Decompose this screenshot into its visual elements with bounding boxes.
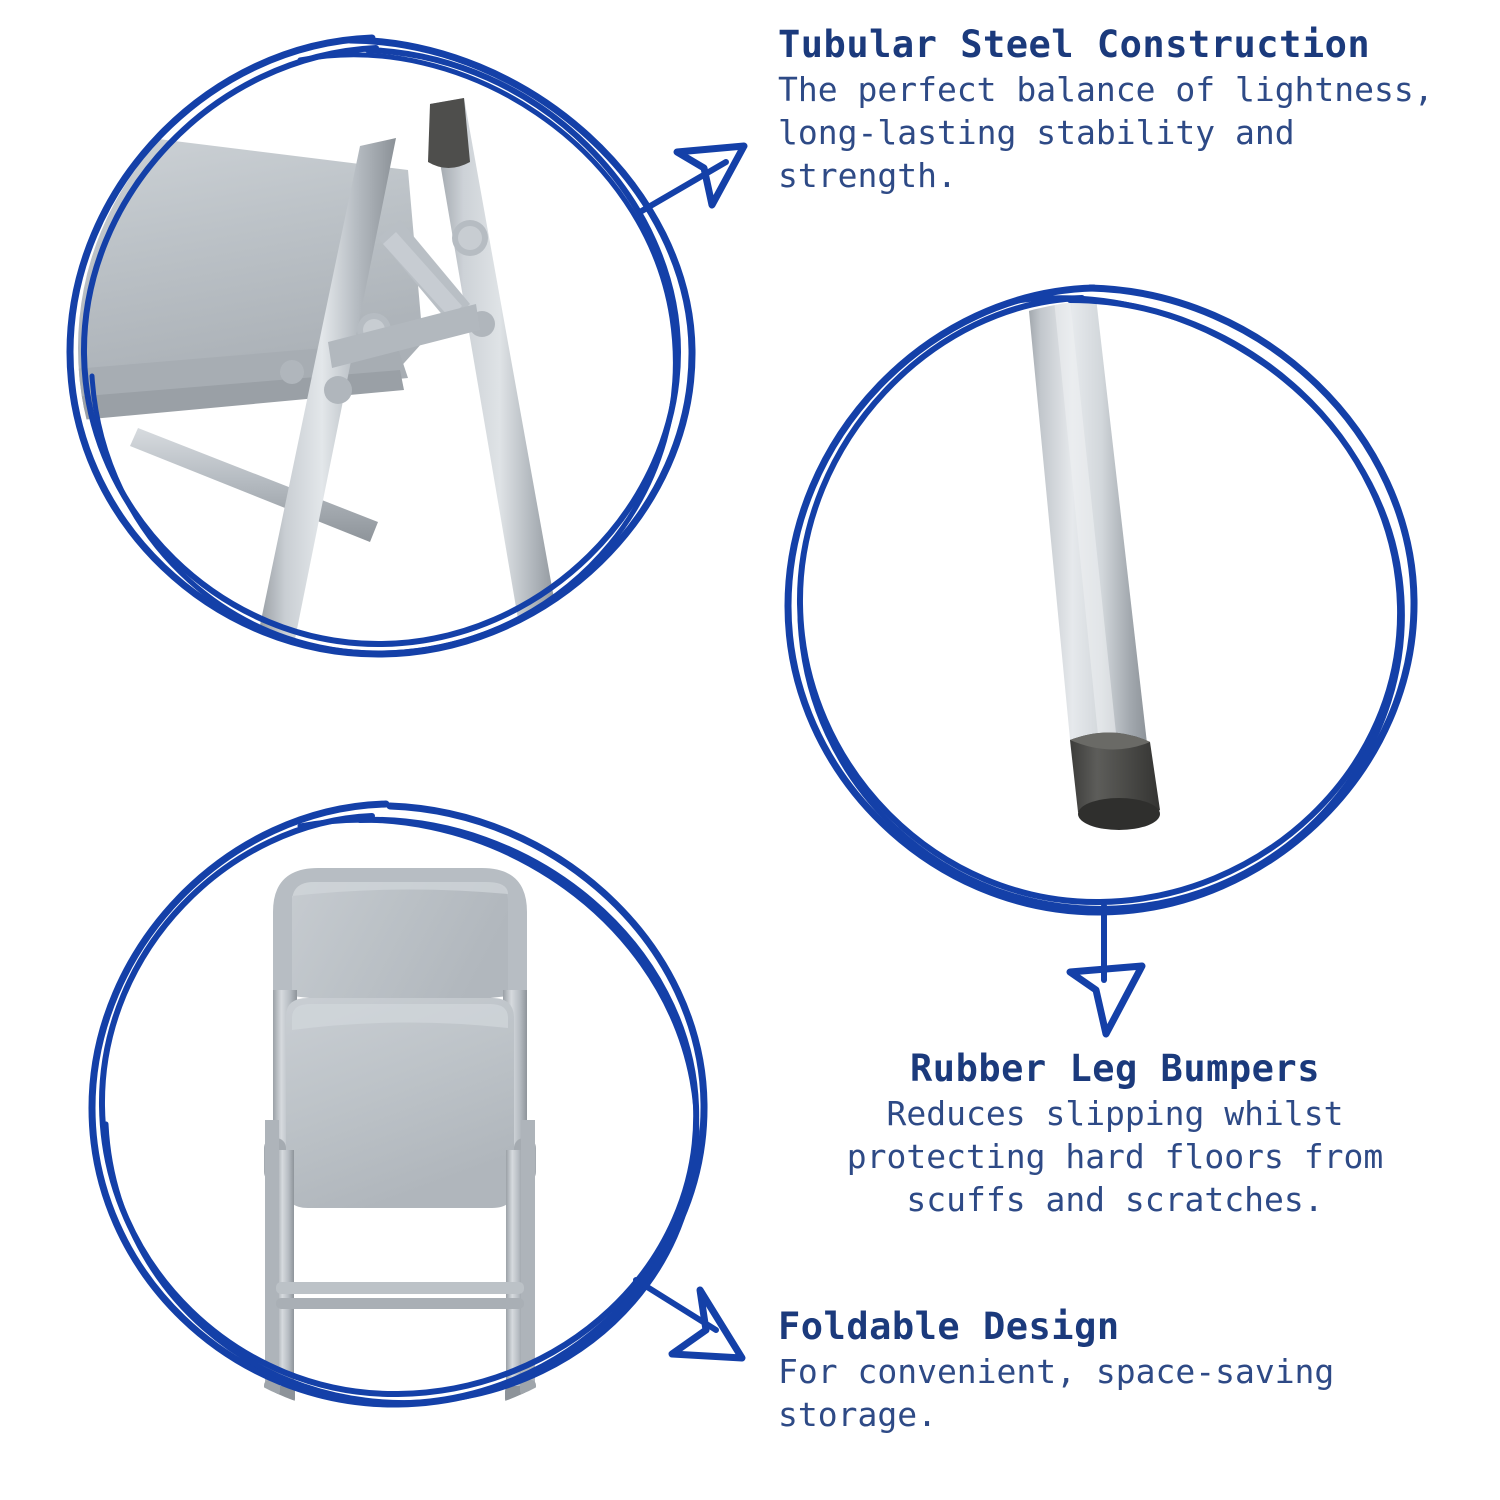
photo-foldable-design (100, 820, 700, 1420)
feature-heading-foldable-design: Foldable Design (778, 1306, 1478, 1347)
feature-block-tubular-steel-construction: Tubular Steel Construction The perfect b… (778, 24, 1478, 198)
infographic-canvas: Tubular Steel Construction The perfect b… (0, 0, 1500, 1500)
arrow-down-icon (1070, 906, 1142, 1034)
feature-body-line: long-lasting stability and (778, 112, 1478, 155)
photo-rubber-leg-bumpers (800, 300, 1420, 920)
feature-block-foldable-design: Foldable Design For convenient, space-sa… (778, 1306, 1478, 1437)
feature-body-tubular-steel-construction: The perfect balance of lightness, long-l… (778, 69, 1478, 198)
feature-body-line: The perfect balance of lightness, (778, 69, 1478, 112)
feature-body-line: protecting hard floors from (770, 1136, 1460, 1179)
feature-block-rubber-leg-bumpers: Rubber Leg Bumpers Reduces slipping whil… (770, 1048, 1460, 1222)
feature-body-foldable-design: For convenient, space-saving storage. (778, 1351, 1478, 1437)
feature-body-line: strength. (778, 155, 1478, 198)
arrow-up-right-icon (640, 146, 744, 212)
feature-heading-tubular-steel-construction: Tubular Steel Construction (778, 24, 1478, 65)
arrow-down-right-icon (636, 1280, 742, 1358)
feature-body-rubber-leg-bumpers: Reduces slipping whilst protecting hard … (770, 1093, 1460, 1222)
feature-body-line: scuffs and scratches. (770, 1179, 1460, 1222)
feature-body-line: For convenient, space-saving (778, 1351, 1478, 1394)
photo-tubular-steel-construction (78, 42, 690, 654)
feature-body-line: Reduces slipping whilst (770, 1093, 1460, 1136)
feature-body-line: storage. (778, 1394, 1478, 1437)
feature-heading-rubber-leg-bumpers: Rubber Leg Bumpers (770, 1048, 1460, 1089)
